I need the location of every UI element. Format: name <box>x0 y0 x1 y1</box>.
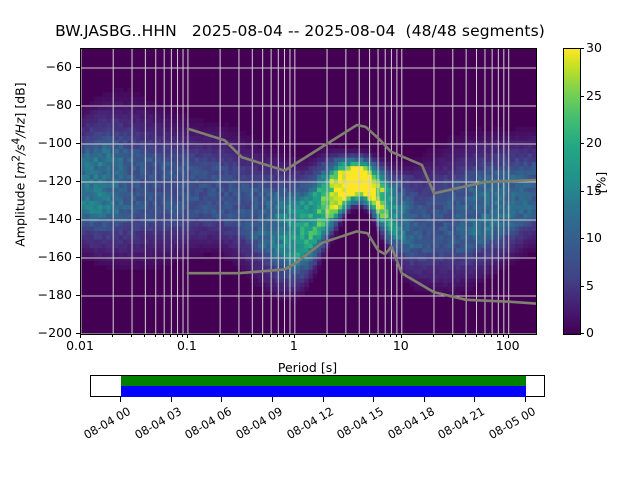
ppsd-density-plot <box>81 49 536 334</box>
ppsd-heatmap-axes[interactable] <box>80 48 537 335</box>
time-tick-label: 08-04 06 <box>175 404 234 446</box>
y-tick-label: −120 <box>26 173 72 188</box>
x-tick-mark <box>155 334 156 337</box>
x-tick-mark <box>384 334 385 337</box>
x-axis-title: Period [s] <box>80 360 535 375</box>
y-tick-label: −180 <box>26 287 72 302</box>
x-tick-label: 100 <box>478 338 538 353</box>
x-tick-label: 0.1 <box>157 338 217 353</box>
time-tick-mark <box>373 397 374 402</box>
colorbar-tick-label: 25 <box>586 88 616 103</box>
time-tick-label: 08-05 00 <box>479 404 538 446</box>
colorbar-tick-mark <box>580 333 584 334</box>
y-tick-label: −140 <box>26 211 72 226</box>
time-tick-mark <box>272 397 273 402</box>
x-tick-mark <box>163 334 164 337</box>
time-tick-mark <box>120 397 121 402</box>
time-tick-label: 08-04 00 <box>74 404 133 446</box>
colorbar-tick-mark <box>580 143 584 144</box>
time-tick-mark <box>221 397 222 402</box>
x-tick-mark <box>497 334 498 337</box>
x-tick-mark <box>251 334 252 337</box>
coverage-segment-lower <box>121 386 526 397</box>
y-axis-title: Amplitude [m2/s4/Hz] [dB] <box>10 25 27 305</box>
x-tick-mark <box>369 334 370 337</box>
time-tick-label: 08-04 21 <box>428 404 487 446</box>
time-tick-label: 08-04 09 <box>226 404 285 446</box>
x-tick-label: 1 <box>264 338 324 353</box>
x-tick-mark <box>277 334 278 337</box>
time-tick-label: 08-04 03 <box>125 404 184 446</box>
time-tick-label: 08-04 12 <box>277 404 336 446</box>
time-tick-mark <box>424 397 425 402</box>
x-tick-mark <box>484 334 485 337</box>
x-tick-mark <box>491 334 492 337</box>
time-tick-mark <box>525 397 526 402</box>
time-tick-label: 08-04 15 <box>327 404 386 446</box>
x-tick-mark <box>503 334 504 337</box>
colorbar-tick-mark <box>580 238 584 239</box>
time-tick-mark <box>171 397 172 402</box>
time-tick-label: 08-04 18 <box>378 404 437 446</box>
y-tick-label: −80 <box>26 97 72 112</box>
ppsd-figure: BW.JASBG..HHN 2025-08-04 -- 2025-08-04 (… <box>0 0 640 480</box>
y-tick-label: −160 <box>26 249 72 264</box>
data-coverage-bar[interactable] <box>90 375 545 397</box>
colorbar-tick-mark <box>580 191 584 192</box>
colorbar[interactable] <box>563 48 581 335</box>
page-title: BW.JASBG..HHN 2025-08-04 -- 2025-08-04 (… <box>0 22 600 40</box>
colorbar-tick-mark <box>580 48 584 49</box>
colorbar-tick-mark <box>580 96 584 97</box>
x-tick-mark <box>452 334 453 337</box>
time-tick-mark <box>323 397 324 402</box>
x-tick-mark <box>131 334 132 337</box>
colorbar-title: [%] <box>594 148 609 218</box>
x-tick-mark <box>283 334 284 337</box>
colorbar-tick-mark <box>580 286 584 287</box>
x-tick-mark <box>238 334 239 337</box>
x-tick-mark <box>177 334 178 337</box>
x-tick-mark <box>170 334 171 337</box>
x-tick-mark <box>112 334 113 337</box>
colorbar-tick-label: 0 <box>586 325 616 340</box>
x-tick-mark <box>182 334 183 337</box>
x-tick-mark <box>358 334 359 337</box>
colorbar-tick-label: 5 <box>586 278 616 293</box>
colorbar-tick-label: 10 <box>586 230 616 245</box>
x-tick-mark <box>262 334 263 337</box>
x-tick-label: 10 <box>371 338 431 353</box>
y-tick-label: −60 <box>26 59 72 74</box>
x-tick-mark <box>144 334 145 337</box>
x-tick-mark <box>377 334 378 337</box>
x-tick-mark <box>433 334 434 337</box>
x-tick-mark <box>396 334 397 337</box>
coverage-segment-upper <box>121 376 526 386</box>
x-tick-label: 0.01 <box>50 338 110 353</box>
colorbar-tick-label: 30 <box>586 40 616 55</box>
time-tick-mark <box>474 397 475 402</box>
x-tick-mark <box>219 334 220 337</box>
x-tick-mark <box>326 334 327 337</box>
x-tick-mark <box>345 334 346 337</box>
x-tick-mark <box>289 334 290 337</box>
y-tick-label: −100 <box>26 135 72 150</box>
x-tick-mark <box>465 334 466 337</box>
x-tick-mark <box>270 334 271 337</box>
x-tick-mark <box>390 334 391 337</box>
x-tick-mark <box>476 334 477 337</box>
